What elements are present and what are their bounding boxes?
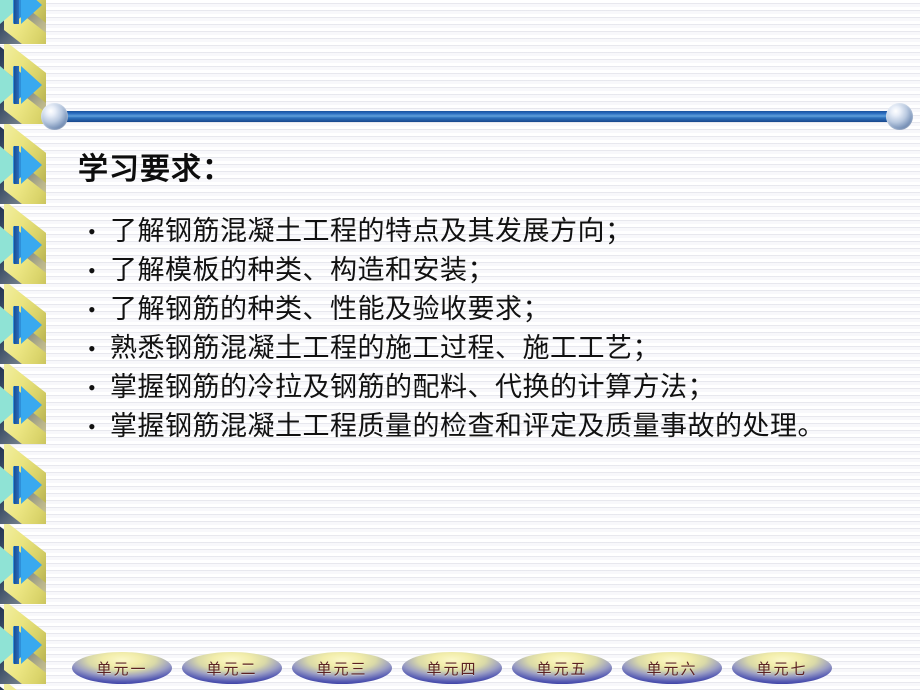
- bullet-item: •了解钢筋混凝土工程的特点及其发展方向；: [88, 212, 888, 251]
- bullet-text: 了解钢筋混凝土工程的特点及其发展方向；: [110, 216, 633, 246]
- slide-title: 学习要求：: [78, 144, 233, 188]
- divider-bar: [56, 111, 898, 122]
- bullet-dot-icon: •: [88, 252, 110, 290]
- ribbon-segment: [0, 44, 46, 124]
- divider-knob-right-icon: [886, 103, 913, 130]
- bullet-text: 了解模板的种类、构造和安装；: [110, 255, 495, 285]
- unit-button-label: 单元三: [316, 658, 367, 679]
- bullet-dot-icon: •: [88, 291, 110, 329]
- bullet-item: •掌握钢筋混凝土工程质量的检查和评定及质量事故的处理。: [88, 407, 888, 446]
- bullet-text: 了解钢筋的种类、性能及验收要求；: [110, 294, 550, 324]
- bullet-item: •了解钢筋的种类、性能及验收要求；: [88, 290, 888, 329]
- divider-knob-left-icon: [41, 103, 68, 130]
- presentation-slide: 学习要求： •了解钢筋混凝土工程的特点及其发展方向；•了解模板的种类、构造和安装…: [0, 0, 920, 690]
- unit-button-7[interactable]: 单元七: [732, 652, 832, 684]
- unit-navigation-bar: 单元一单元二单元三单元四单元五单元六单元七: [72, 652, 862, 686]
- unit-button-1[interactable]: 单元一: [72, 652, 172, 684]
- unit-button-label: 单元六: [646, 658, 697, 679]
- bullet-text: 掌握钢筋混凝土工程质量的检查和评定及质量事故的处理。: [110, 411, 825, 441]
- ribbon-segment: [0, 524, 46, 604]
- bullet-item: •了解模板的种类、构造和安装；: [88, 251, 888, 290]
- ribbon-segment: [0, 444, 46, 524]
- bullet-dot-icon: •: [88, 369, 110, 407]
- bullet-dot-icon: •: [88, 408, 110, 446]
- ribbon-segment: [0, 204, 46, 284]
- unit-button-4[interactable]: 单元四: [402, 652, 502, 684]
- bullet-dot-icon: •: [88, 213, 110, 251]
- unit-button-label: 单元二: [206, 658, 257, 679]
- bullet-list: •了解钢筋混凝土工程的特点及其发展方向；•了解模板的种类、构造和安装；•了解钢筋…: [88, 212, 888, 446]
- unit-button-label: 单元七: [756, 658, 807, 679]
- unit-button-label: 单元五: [536, 658, 587, 679]
- unit-button-label: 单元一: [96, 658, 147, 679]
- ribbon-segment: [0, 604, 46, 684]
- ribbon-segment: [0, 0, 46, 44]
- unit-button-2[interactable]: 单元二: [182, 652, 282, 684]
- bullet-dot-icon: •: [88, 330, 110, 368]
- unit-button-5[interactable]: 单元五: [512, 652, 612, 684]
- unit-button-6[interactable]: 单元六: [622, 652, 722, 684]
- ribbon-segment: [0, 684, 46, 690]
- unit-button-label: 单元四: [426, 658, 477, 679]
- bullet-text: 掌握钢筋的冷拉及钢筋的配料、代换的计算方法；: [110, 372, 715, 402]
- ribbon-segment: [0, 364, 46, 444]
- unit-button-3[interactable]: 单元三: [292, 652, 392, 684]
- bullet-item: •掌握钢筋的冷拉及钢筋的配料、代换的计算方法；: [88, 368, 888, 407]
- bullet-item: •熟悉钢筋混凝土工程的施工过程、施工工艺；: [88, 329, 888, 368]
- title-divider-rule: [48, 111, 906, 122]
- bullet-text: 熟悉钢筋混凝土工程的施工过程、施工工艺；: [110, 333, 660, 363]
- decorative-ribbon-border: [0, 0, 46, 690]
- ribbon-segment: [0, 284, 46, 364]
- ribbon-segment: [0, 124, 46, 204]
